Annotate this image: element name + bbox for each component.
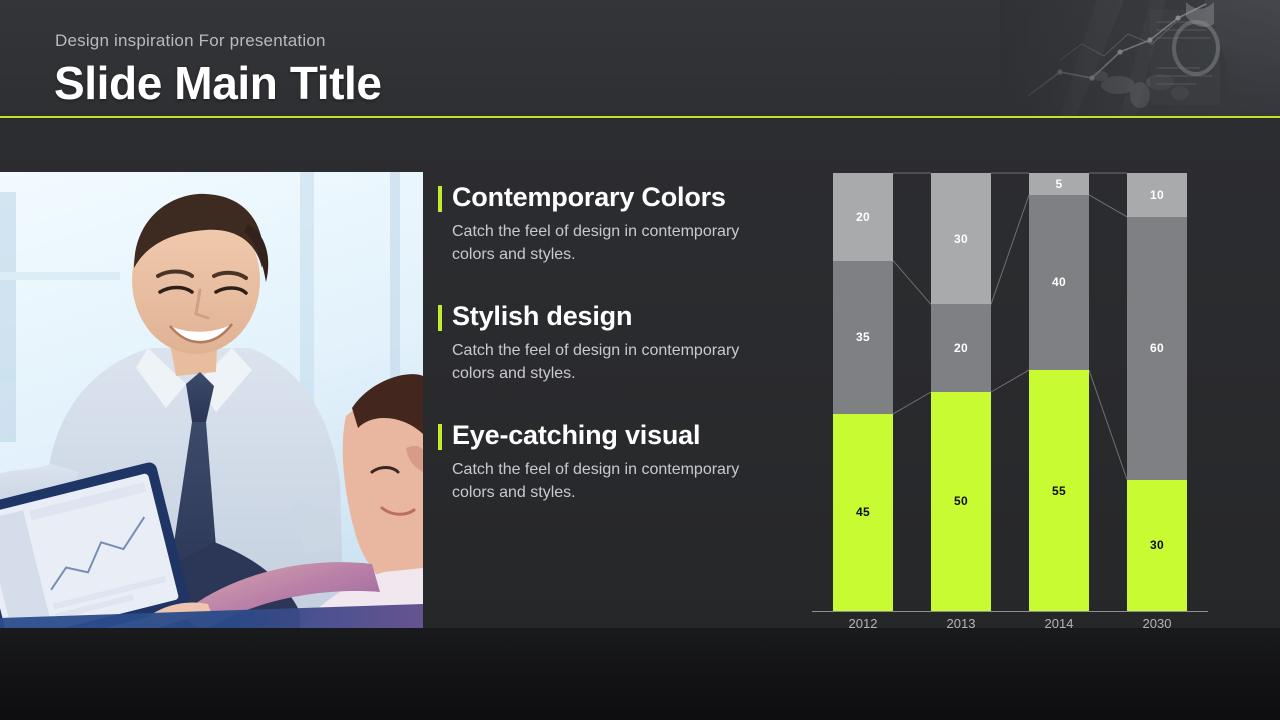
list-item: Eye-catching visual Catch the feel of de… [438, 418, 768, 504]
footer-background [0, 628, 1280, 720]
chart-bar: 106030 [1127, 173, 1187, 611]
chart-segment-value: 30 [1150, 538, 1164, 552]
page-title: Slide Main Title [54, 56, 382, 110]
accent-bar-icon [438, 305, 442, 331]
bullet-heading: Stylish design [452, 299, 768, 334]
chart-bar: 302050 [931, 173, 991, 611]
chart-category-label: 2030 [1117, 616, 1197, 631]
chart-bar: 203545 [833, 173, 893, 611]
chart-segment-value: 45 [856, 505, 870, 519]
bullet-heading: Eye-catching visual [452, 418, 768, 453]
bullet-heading: Contemporary Colors [452, 180, 768, 215]
accent-bar-icon [438, 186, 442, 212]
chart-segment-value: 30 [954, 232, 968, 246]
chart-bar-segment-top: 5 [1029, 173, 1089, 195]
chart-bar-segment-top: 20 [833, 173, 893, 261]
chart-axis-line [812, 611, 1208, 612]
content-photo [0, 172, 423, 628]
chart-segment-value: 60 [1150, 341, 1164, 355]
chart-segment-value: 10 [1150, 188, 1164, 202]
chart-bar-segment-top: 10 [1127, 173, 1187, 217]
chart-segment-value: 35 [856, 330, 870, 344]
bullet-body: Catch the feel of design in contemporary… [452, 339, 768, 385]
chart-bar-segment-middle: 40 [1029, 195, 1089, 370]
list-item: Stylish design Catch the feel of design … [438, 299, 768, 385]
bullet-body: Catch the feel of design in contemporary… [452, 220, 768, 266]
presentation-slide: Design inspiration For presentation Slid… [0, 0, 1280, 720]
chart-bar-segment-top: 30 [931, 173, 991, 304]
chart-segment-value: 50 [954, 494, 968, 508]
chart-segment-value: 55 [1052, 484, 1066, 498]
list-item: Contemporary Colors Catch the feel of de… [438, 180, 768, 266]
bullet-body: Catch the feel of design in contemporary… [452, 458, 768, 504]
chart-category-label: 2013 [921, 616, 1001, 631]
chart-category-label: 2014 [1019, 616, 1099, 631]
slide-eyebrow: Design inspiration For presentation [55, 31, 326, 51]
chart-bar-segment-middle: 60 [1127, 217, 1187, 480]
chart-bar-segment-middle: 35 [833, 261, 893, 414]
chart-category-labels: 2012201320142030 [806, 616, 1214, 640]
bullet-list: Contemporary Colors Catch the feel of de… [438, 180, 768, 538]
header-accent-rule [0, 116, 1280, 118]
stacked-bar-chart: 20354530205054055106030 2012201320142030 [806, 168, 1214, 638]
chart-bar-segment-bottom: 50 [931, 392, 991, 611]
chart-bar-segment-bottom: 55 [1029, 370, 1089, 611]
chart-bar-segment-middle: 20 [931, 304, 991, 392]
chart-plot-area: 20354530205054055106030 [806, 168, 1214, 612]
chart-bar-segment-bottom: 45 [833, 414, 893, 611]
chart-bar-segment-bottom: 30 [1127, 480, 1187, 611]
chart-segment-value: 20 [856, 210, 870, 224]
chart-bar: 54055 [1029, 173, 1089, 611]
chart-category-label: 2012 [823, 616, 903, 631]
chart-segment-value: 40 [1052, 275, 1066, 289]
chart-segment-value: 5 [1056, 177, 1063, 191]
header-photo [1000, 0, 1280, 117]
chart-segment-value: 20 [954, 341, 968, 355]
accent-bar-icon [438, 424, 442, 450]
